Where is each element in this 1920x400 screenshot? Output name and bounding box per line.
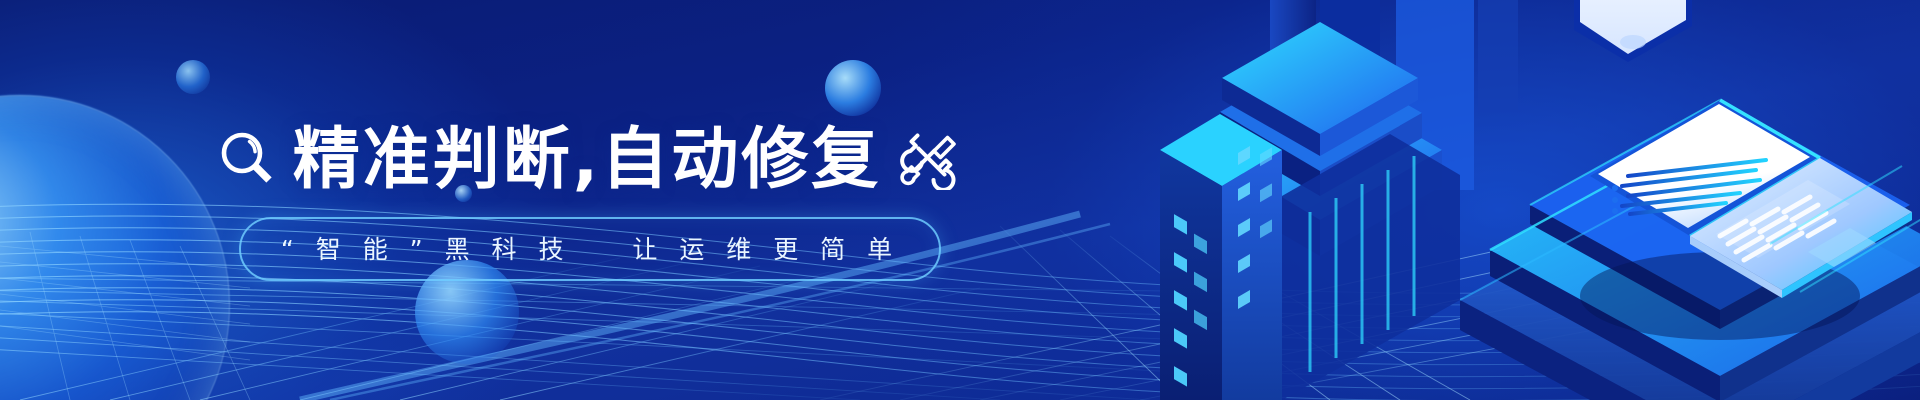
isometric-tower-building (1160, 114, 1282, 400)
wrench-screwdriver-icon (899, 128, 961, 190)
magnifier-icon (219, 130, 275, 188)
floating-document-card (1574, 0, 1692, 62)
isometric-illustration (1160, 0, 1920, 400)
tech-hero-banner: 精准判断,自动修复 “ 智 (0, 0, 1920, 400)
headline-row: 精准判断,自动修复 (219, 126, 961, 193)
card-bars (1602, 0, 1658, 4)
screen-bullets (1612, 185, 1618, 214)
headline-block: 精准判断,自动修复 “ 智 (0, 0, 1180, 400)
headline-title: 精准判断,自动修复 (293, 126, 881, 193)
subtitle-pill: “ 智 能 ” 黑 科 技 让 运 维 更 简 单 (239, 217, 941, 281)
